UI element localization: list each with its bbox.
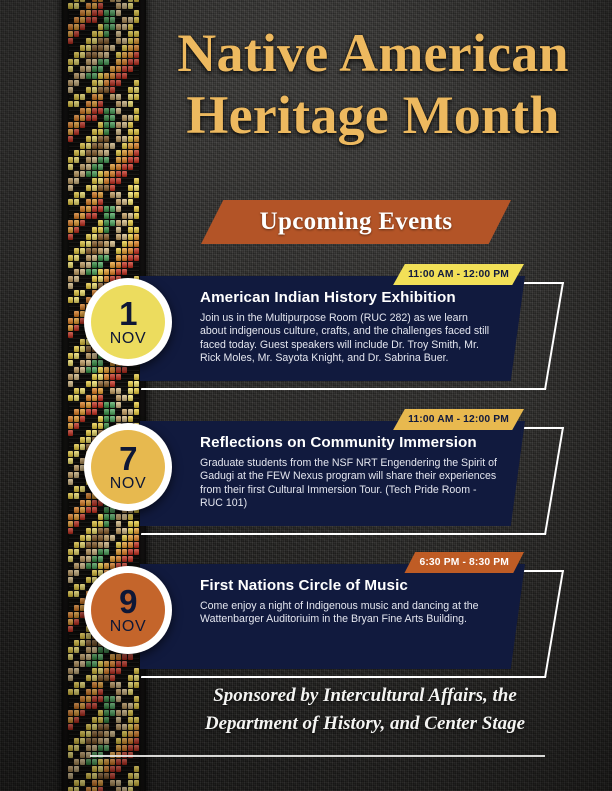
event-description: Come enjoy a night of Indigenous music a…: [200, 600, 497, 627]
event-description: Graduate students from the NSF NRT Engen…: [200, 457, 497, 511]
sponsor-footer: Sponsored by Intercultural Affairs, the …: [150, 682, 580, 738]
event-date-circle: 7 NOV: [84, 423, 172, 511]
event-title: First Nations Circle of Music: [200, 577, 497, 595]
event-date-disc: 9 NOV: [91, 573, 165, 647]
event-card: Reflections on Community Immersion Gradu…: [140, 421, 525, 526]
event-description: Join us in the Multipurpose Room (RUC 28…: [200, 312, 497, 366]
event-card-content: First Nations Circle of Music Come enjoy…: [200, 577, 497, 627]
event-card-content: American Indian History Exhibition Join …: [200, 289, 497, 366]
event-card-content: Reflections on Community Immersion Gradu…: [200, 434, 497, 511]
event-date-circle: 1 NOV: [84, 278, 172, 366]
page-title: Native American Heritage Month: [150, 22, 596, 146]
poster-root: Native American Heritage Month Upcoming …: [0, 0, 612, 791]
event-title: Reflections on Community Immersion: [200, 434, 497, 452]
upcoming-events-banner: Upcoming Events: [201, 200, 511, 244]
footer-divider: [90, 755, 545, 757]
event-month: NOV: [110, 619, 146, 635]
event-month: NOV: [110, 476, 146, 492]
event-card: First Nations Circle of Music Come enjoy…: [140, 564, 525, 669]
upcoming-events-label: Upcoming Events: [260, 208, 453, 236]
sponsor-line-2: Department of History, and Center Stage: [150, 710, 580, 738]
event-time-badge: 6:30 PM - 8:30 PM: [404, 552, 524, 573]
title-line-2: Heritage Month: [150, 84, 596, 146]
sponsor-line-1: Sponsored by Intercultural Affairs, the: [150, 682, 580, 710]
title-line-1: Native American: [150, 22, 596, 84]
event-day: 9: [119, 585, 137, 618]
event-date-disc: 1 NOV: [91, 285, 165, 359]
event-date-disc: 7 NOV: [91, 430, 165, 504]
event-title: American Indian History Exhibition: [200, 289, 497, 307]
event-day: 1: [119, 297, 137, 330]
event-time-badge: 11:00 AM - 12:00 PM: [393, 264, 524, 285]
event-day: 7: [119, 442, 137, 475]
event-date-circle: 9 NOV: [84, 566, 172, 654]
event-card: American Indian History Exhibition Join …: [140, 276, 525, 381]
event-month: NOV: [110, 331, 146, 347]
event-time-badge: 11:00 AM - 12:00 PM: [393, 409, 524, 430]
